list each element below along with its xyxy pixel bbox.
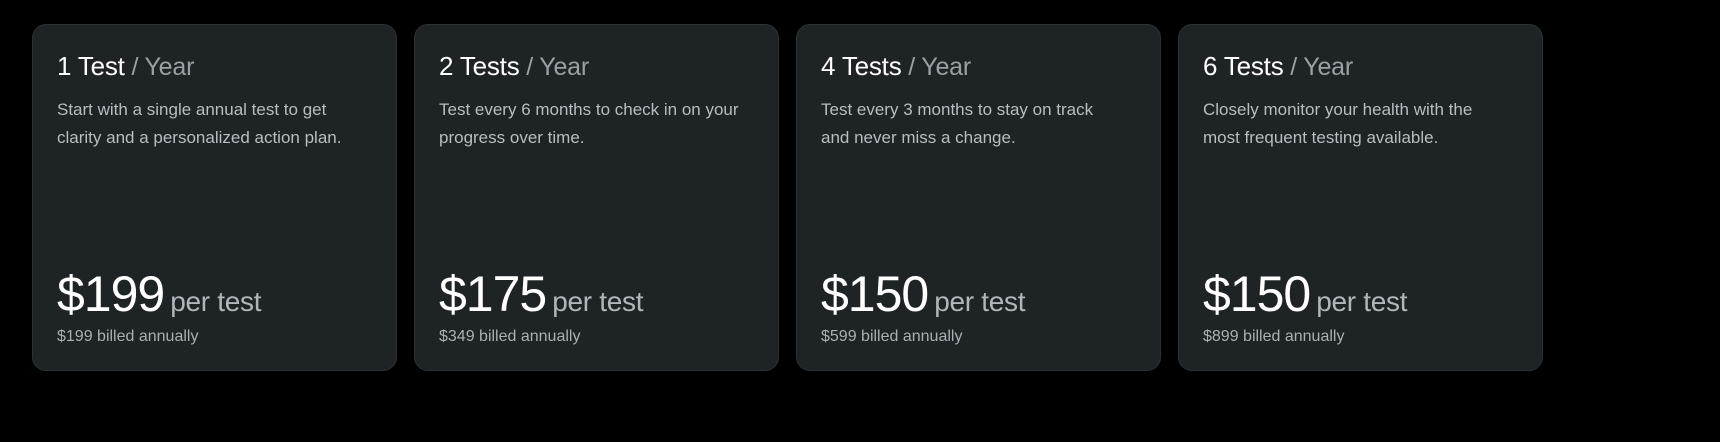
plan-billed-note: $899 billed annually xyxy=(1203,326,1518,348)
plan-price-unit: per test xyxy=(934,286,1025,318)
pricing-card-4-tests[interactable]: 4 Tests / Year Test every 3 months to st… xyxy=(796,24,1161,371)
card-spacer xyxy=(1203,152,1518,266)
plan-price-block: $175 per test $349 billed annually xyxy=(439,266,754,348)
plan-title: 6 Tests / Year xyxy=(1203,51,1518,82)
card-spacer xyxy=(439,152,754,266)
plan-price-line: $150 per test xyxy=(821,266,1136,322)
plan-title: 4 Tests / Year xyxy=(821,51,1136,82)
plan-count-label: 2 Tests xyxy=(439,51,520,81)
plan-period-label: / Year xyxy=(1284,53,1354,81)
plan-price-block: $150 per test $599 billed annually xyxy=(821,266,1136,348)
pricing-card-6-tests[interactable]: 6 Tests / Year Closely monitor your heal… xyxy=(1178,24,1543,371)
plan-description: Closely monitor your health with the mos… xyxy=(1203,96,1508,152)
plan-price-unit: per test xyxy=(1316,286,1407,318)
plan-period-label: / Year xyxy=(902,53,972,81)
plan-title: 1 Test / Year xyxy=(57,51,372,82)
plan-price-block: $199 per test $199 billed annually xyxy=(57,266,372,348)
card-spacer xyxy=(57,152,372,266)
card-spacer xyxy=(821,152,1136,266)
pricing-plans-section: 1 Test / Year Start with a single annual… xyxy=(0,0,1720,442)
plan-price-line: $199 per test xyxy=(57,266,372,322)
plan-price-amount: $150 xyxy=(1203,266,1310,322)
plan-price-unit: per test xyxy=(170,286,261,318)
plan-price-block: $150 per test $899 billed annually xyxy=(1203,266,1518,348)
plan-price-line: $150 per test xyxy=(1203,266,1518,322)
plan-price-amount: $199 xyxy=(57,266,164,322)
plan-count-label: 4 Tests xyxy=(821,51,902,81)
plan-period-label: / Year xyxy=(520,53,590,81)
plan-description: Test every 6 months to check in on your … xyxy=(439,96,744,152)
plan-count-label: 6 Tests xyxy=(1203,51,1284,81)
pricing-card-1-test[interactable]: 1 Test / Year Start with a single annual… xyxy=(32,24,397,371)
plan-price-amount: $150 xyxy=(821,266,928,322)
plan-description: Test every 3 months to stay on track and… xyxy=(821,96,1126,152)
plan-price-line: $175 per test xyxy=(439,266,754,322)
pricing-cards-row: 1 Test / Year Start with a single annual… xyxy=(32,24,1543,371)
plan-price-amount: $175 xyxy=(439,266,546,322)
plan-title: 2 Tests / Year xyxy=(439,51,754,82)
plan-billed-note: $349 billed annually xyxy=(439,326,754,348)
plan-billed-note: $599 billed annually xyxy=(821,326,1136,348)
plan-period-label: / Year xyxy=(125,53,195,81)
plan-billed-note: $199 billed annually xyxy=(57,326,372,348)
plan-count-label: 1 Test xyxy=(57,51,125,81)
plan-description: Start with a single annual test to get c… xyxy=(57,96,362,152)
pricing-card-2-tests[interactable]: 2 Tests / Year Test every 6 months to ch… xyxy=(414,24,779,371)
plan-price-unit: per test xyxy=(552,286,643,318)
